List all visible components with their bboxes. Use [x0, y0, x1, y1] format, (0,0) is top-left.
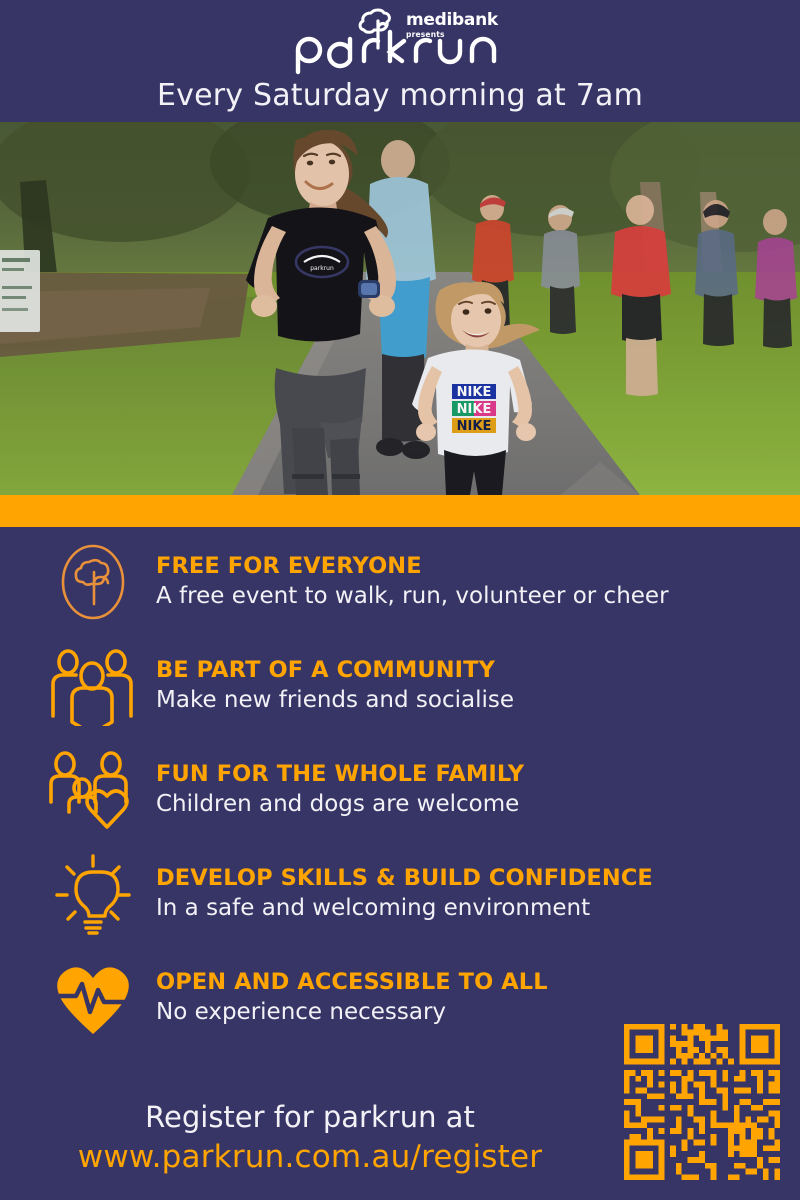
feature-item-be-part-of-a-community: BE PART OF A COMMUNITY Make new friends … [0, 634, 800, 738]
feature-title: FREE FOR EVERYONE [156, 553, 669, 579]
event-tagline: Every Saturday morning at 7am [0, 78, 800, 113]
feature-subtitle: Children and dogs are welcome [156, 789, 524, 819]
feature-subtitle: No experience necessary [156, 997, 548, 1027]
poster-header: medibank presents [0, 0, 800, 122]
heart-with-pulse-icon [38, 956, 148, 1040]
group-of-people-icon [38, 644, 148, 728]
qr-code-icon[interactable] [618, 1018, 786, 1186]
feature-text-block: OPEN AND ACCESSIBLE TO ALL No experience… [148, 969, 548, 1027]
hero-photo: parkrun [0, 122, 800, 495]
brand-lockup: medibank presents [0, 8, 800, 70]
feature-item-fun-for-the-whole-family: FUN FOR THE WHOLE FAMILY Children and do… [0, 738, 800, 842]
feature-text-block: DEVELOP SKILLS & BUILD CONFIDENCE In a s… [148, 865, 653, 923]
feature-text-block: BE PART OF A COMMUNITY Make new friends … [148, 657, 514, 715]
feature-subtitle: A free event to walk, run, volunteer or … [156, 581, 669, 611]
feature-subtitle: Make new friends and socialise [156, 685, 514, 715]
feature-title: BE PART OF A COMMUNITY [156, 657, 514, 683]
feature-item-free-for-everyone: FREE FOR EVERYONE A free event to walk, … [0, 530, 800, 634]
parkrun-poster: medibank presents [0, 0, 800, 1200]
tree-in-circle-icon [38, 540, 148, 624]
feature-title: OPEN AND ACCESSIBLE TO ALL [156, 969, 548, 995]
lightbulb-icon [38, 852, 148, 936]
orange-divider-bar [0, 495, 800, 527]
register-call-to-action: Register for parkrun at [0, 1098, 620, 1136]
feature-item-develop-skills-build-confidence: DEVELOP SKILLS & BUILD CONFIDENCE In a s… [0, 842, 800, 946]
feature-title: FUN FOR THE WHOLE FAMILY [156, 761, 524, 787]
register-url[interactable]: www.parkrun.com.au/register [0, 1136, 620, 1178]
sponsor-name: medibank [406, 11, 498, 29]
feature-title: DEVELOP SKILLS & BUILD CONFIDENCE [156, 865, 653, 891]
feature-text-block: FREE FOR EVERYONE A free event to walk, … [148, 553, 669, 611]
feature-subtitle: In a safe and welcoming environment [156, 893, 653, 923]
poster-footer: Register for parkrun at www.parkrun.com.… [0, 1098, 620, 1178]
feature-list: FREE FOR EVERYONE A free event to walk, … [0, 530, 800, 1050]
parkrun-wordmark [288, 28, 518, 76]
feature-text-block: FUN FOR THE WHOLE FAMILY Children and do… [148, 761, 524, 819]
family-with-heart-icon [38, 748, 148, 832]
